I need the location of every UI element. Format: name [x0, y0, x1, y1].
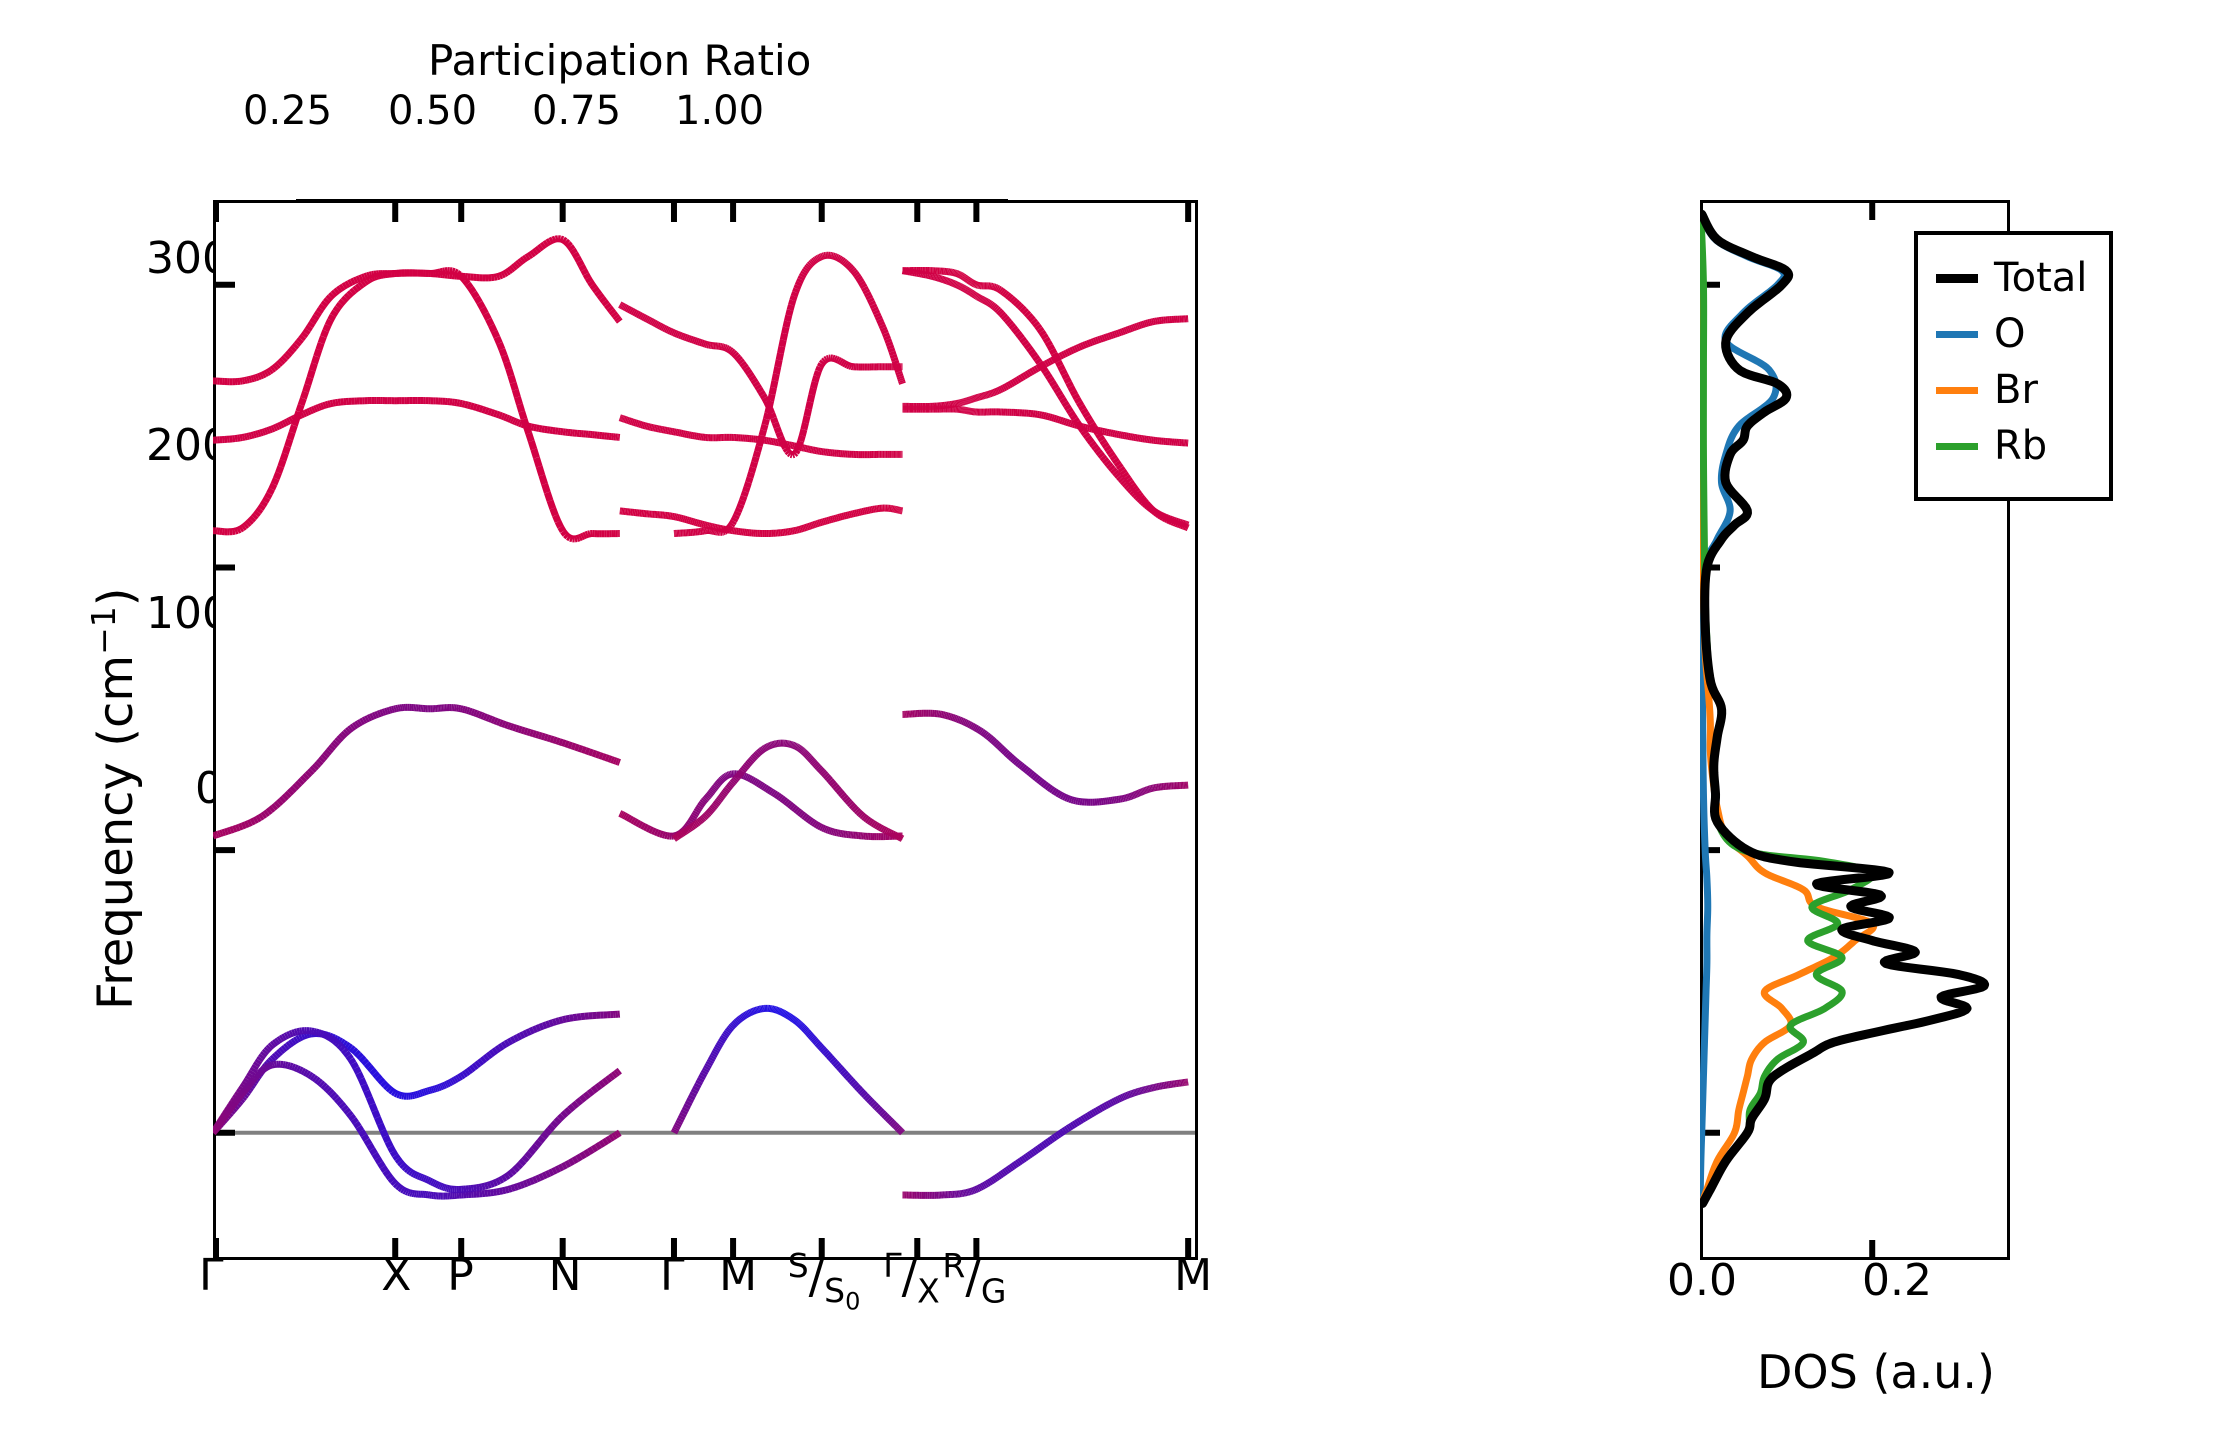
band-point: [841, 793, 843, 795]
band-point: [763, 787, 765, 788]
band-point: [679, 335, 681, 336]
band-point: [302, 778, 305, 781]
band-point: [900, 837, 901, 838]
band-point: [752, 467, 754, 472]
band-point: [895, 361, 896, 364]
band-point: [487, 717, 490, 718]
band-point: [545, 243, 548, 245]
band-point: [741, 771, 742, 773]
band-point: [261, 1055, 263, 1057]
band-point: [972, 726, 974, 727]
band-point: [265, 431, 267, 432]
band-point: [299, 405, 301, 412]
band-point: [637, 823, 639, 824]
band-point: [1041, 1146, 1043, 1147]
band-point: [361, 1079, 364, 1085]
band-point: [829, 1056, 831, 1058]
band-point: [269, 489, 271, 494]
colorbar-tick-0: 0.25: [243, 88, 332, 134]
band-point: [460, 275, 463, 278]
band-point: [959, 274, 960, 275]
band-point: [1045, 1143, 1047, 1144]
band-point: [1144, 504, 1146, 506]
band-point: [375, 1154, 378, 1159]
band-point: [520, 261, 522, 263]
band-point: [505, 725, 508, 726]
band-point: [559, 1020, 562, 1021]
band-point: [769, 746, 770, 747]
band-point: [1068, 1127, 1070, 1128]
band-point: [247, 522, 249, 524]
band-point: [683, 519, 685, 520]
band-point: [1034, 776, 1036, 778]
frac-numerator: R: [942, 1246, 965, 1285]
band-point: [736, 1021, 737, 1022]
band-point: [531, 441, 534, 449]
band-point: [674, 333, 676, 334]
band-point: [299, 339, 301, 342]
band-point: [346, 1110, 348, 1113]
band-point: [469, 711, 471, 712]
band-point: [290, 419, 292, 420]
band-point: [817, 1043, 818, 1044]
band-point: [530, 1180, 533, 1181]
band-point: [750, 1012, 751, 1013]
band-point: [708, 1065, 709, 1067]
band-point: [1050, 378, 1052, 381]
band-point: [471, 1067, 474, 1069]
band-point: [971, 293, 972, 294]
band-point: [995, 742, 997, 743]
band-point: [846, 1075, 848, 1077]
band-point: [1102, 338, 1104, 339]
band-point: [864, 287, 865, 290]
band-point: [522, 730, 525, 731]
band-point: [260, 432, 262, 433]
band-point: [867, 1097, 869, 1099]
band-point: [771, 394, 772, 401]
band-point: [330, 316, 332, 321]
band-point: [290, 433, 292, 440]
band-point: [341, 1047, 343, 1050]
band-point: [789, 1016, 790, 1017]
band-point: [798, 748, 799, 749]
band-point: [823, 828, 825, 829]
band-point: [531, 253, 534, 255]
band-point: [1100, 454, 1102, 457]
band-point: [414, 1174, 416, 1175]
band-point: [726, 530, 727, 531]
band-point: [563, 240, 565, 242]
band-point: [685, 337, 687, 338]
band-point: [1009, 322, 1011, 324]
band-point: [993, 305, 994, 306]
band-point: [1009, 384, 1011, 385]
band-point: [899, 372, 900, 374]
band-point: [531, 427, 534, 428]
band-point: [414, 1095, 416, 1096]
band-point: [1016, 761, 1018, 762]
band-point: [290, 1033, 292, 1034]
band-point: [367, 1140, 370, 1145]
band-point: [1099, 1108, 1101, 1109]
band-point: [803, 751, 804, 752]
band-point: [1132, 491, 1134, 493]
band-point: [572, 746, 575, 747]
band-point: [246, 1080, 248, 1083]
band-point: [1044, 369, 1046, 372]
band-point: [990, 304, 991, 305]
band-point: [640, 315, 642, 316]
band-point: [1075, 395, 1077, 399]
band-point: [822, 362, 824, 364]
band-point: [321, 406, 323, 407]
band-point: [509, 1188, 512, 1189]
band-point: [793, 296, 794, 300]
band-point: [741, 500, 742, 504]
band-point: [364, 1085, 367, 1091]
band-point: [882, 325, 883, 328]
band-point: [281, 1050, 283, 1052]
band-point: [1033, 1151, 1035, 1152]
band-point: [765, 419, 766, 425]
band-point: [762, 430, 763, 435]
band-point: [827, 358, 829, 359]
band-point: [1011, 298, 1013, 300]
band-point: [513, 727, 516, 728]
band-point: [317, 350, 319, 357]
band-point: [794, 1020, 795, 1021]
band-point: [1081, 346, 1083, 347]
band-point: [804, 1028, 805, 1029]
band-point: [850, 366, 852, 367]
band-point: [675, 1130, 676, 1132]
band-point: [638, 424, 640, 425]
band-point: [753, 380, 755, 383]
band-point: [810, 758, 811, 759]
legend-item-total[interactable]: Total: [1936, 255, 2087, 301]
band-point: [980, 298, 981, 299]
band-point: [272, 1044, 274, 1046]
band-point: [994, 287, 995, 288]
band-point: [708, 813, 709, 814]
band-point: [810, 264, 811, 265]
band-point: [568, 244, 570, 247]
band-point: [749, 1013, 750, 1014]
band-point: [1155, 512, 1157, 513]
band-point: [714, 788, 715, 789]
band-point: [515, 264, 517, 266]
band-point: [1071, 412, 1073, 415]
band-point: [826, 830, 828, 831]
band-point: [695, 1087, 696, 1090]
band-point: [882, 1112, 884, 1114]
band-point: [1077, 399, 1079, 403]
band-point: [997, 309, 999, 310]
band-point: [353, 1063, 356, 1068]
band-point: [1146, 323, 1148, 324]
band-point: [812, 1038, 813, 1039]
band-point: [592, 285, 594, 288]
band-point: [1053, 1137, 1055, 1138]
band-point: [1009, 755, 1011, 757]
band-point: [787, 1015, 788, 1016]
band-point: [272, 368, 274, 370]
band-point: [806, 1030, 807, 1031]
band-point: [764, 748, 765, 749]
band-point: [731, 523, 732, 525]
band-point: [390, 1090, 392, 1092]
band-point: [1075, 348, 1077, 349]
band-point: [1070, 1126, 1072, 1127]
band-point: [1005, 386, 1007, 387]
band-point: [730, 1027, 731, 1028]
band-point: [317, 312, 319, 316]
band-point: [685, 831, 686, 832]
band-point: [1120, 1098, 1122, 1099]
band-point: [733, 353, 735, 355]
band-point: [1077, 347, 1079, 348]
band-point: [272, 484, 274, 489]
band-point: [360, 284, 363, 286]
band-point: [880, 828, 882, 829]
band-point: [735, 779, 736, 780]
band-point: [527, 1182, 530, 1183]
band-point: [1055, 1135, 1057, 1136]
band-point: [218, 1123, 220, 1125]
band-point: [357, 286, 360, 288]
band-point: [1020, 377, 1022, 378]
band-point: [1130, 1094, 1131, 1095]
band-point: [629, 421, 631, 422]
band-point: [901, 381, 902, 383]
band-point: [997, 288, 999, 289]
band-point: [862, 1092, 864, 1094]
band-point: [563, 1019, 566, 1020]
band-point: [662, 327, 664, 328]
band-point: [323, 405, 325, 406]
band-point: [533, 1179, 536, 1180]
band-point: [698, 523, 700, 524]
band-point: [213, 1131, 214, 1132]
band-point: [847, 264, 848, 265]
band-point: [816, 259, 817, 260]
band-point: [1056, 389, 1058, 392]
band-point: [817, 258, 818, 259]
band-point: [325, 1087, 327, 1089]
band-point: [388, 1142, 391, 1147]
band-point: [809, 402, 811, 409]
band-point: [796, 809, 798, 811]
band-point: [818, 367, 820, 371]
band-point: [439, 1087, 441, 1088]
band-point: [509, 419, 511, 420]
band-point: [846, 799, 848, 801]
band-point: [266, 1049, 268, 1051]
band-point: [333, 744, 335, 746]
band-point: [539, 247, 542, 249]
band-point: [319, 343, 321, 350]
band-point: [600, 1143, 604, 1145]
band-point: [529, 255, 532, 257]
band-point: [991, 739, 993, 740]
legend-item-rb[interactable]: Rb: [1936, 423, 2087, 469]
band-point: [753, 462, 755, 467]
band-point: [328, 320, 330, 325]
band-point: [638, 314, 640, 315]
band-point: [361, 1058, 364, 1061]
band-point: [353, 1119, 356, 1123]
legend-item-br[interactable]: Br: [1936, 367, 2087, 413]
band-point: [958, 285, 959, 286]
band-point: [276, 803, 279, 805]
band-point: [550, 501, 553, 509]
band-point: [651, 321, 653, 322]
band-point: [1009, 297, 1011, 299]
band-point: [329, 749, 331, 751]
band-point: [372, 1070, 375, 1073]
band-point: [249, 1083, 251, 1085]
band-point: [314, 1031, 316, 1032]
band-point: [312, 768, 314, 770]
band-point: [966, 723, 968, 724]
band-point: [631, 421, 633, 422]
band-point: [711, 809, 712, 810]
band-point: [609, 308, 611, 311]
band-xtick-label-6: S/S0: [788, 1246, 861, 1316]
band-point: [225, 1111, 227, 1114]
band-point: [503, 1044, 506, 1046]
band-point: [687, 338, 689, 339]
legend-item-o[interactable]: O: [1936, 311, 2087, 357]
band-point: [319, 309, 321, 312]
band-point: [878, 317, 879, 320]
band-point: [692, 818, 693, 820]
band-point: [815, 1040, 816, 1041]
band-point: [247, 436, 249, 437]
band-point: [717, 784, 718, 785]
band-point: [995, 308, 997, 309]
band-point: [566, 1110, 570, 1113]
band-point: [378, 275, 380, 276]
band-point: [348, 1113, 350, 1116]
band-point: [292, 1032, 294, 1033]
band-point: [515, 422, 517, 423]
band-point: [303, 333, 305, 336]
band-point: [1006, 752, 1008, 754]
band-point: [330, 403, 332, 404]
band-point: [1089, 1114, 1091, 1115]
band-point: [880, 1111, 882, 1113]
band-point: [769, 401, 770, 407]
band-point: [799, 279, 800, 282]
band-point: [550, 1023, 553, 1024]
band-point: [349, 728, 351, 730]
band-point: [279, 425, 281, 426]
band-point: [968, 291, 969, 292]
band-point: [700, 342, 702, 343]
band-point: [1150, 508, 1152, 509]
band-point: [772, 792, 774, 793]
band-point: [334, 1096, 336, 1099]
band-point: [853, 807, 855, 809]
band-point: [1039, 1147, 1041, 1148]
band-point: [1004, 751, 1006, 753]
band-point: [1071, 387, 1073, 391]
band-point: [976, 296, 977, 297]
band-point: [461, 1075, 463, 1076]
band-point: [752, 758, 753, 759]
band-point: [354, 280, 357, 281]
band-point: [628, 818, 630, 819]
band-point: [827, 1054, 829, 1056]
band-point: [269, 370, 271, 372]
band-point: [1052, 350, 1054, 354]
band-point: [254, 515, 256, 518]
band-point: [1132, 328, 1134, 329]
band-point: [500, 1179, 503, 1181]
band-point: [865, 818, 867, 819]
band-point: [746, 765, 747, 767]
band-point: [297, 416, 299, 417]
band-point: [258, 376, 260, 377]
band-point: [896, 1126, 897, 1127]
band-point: [1115, 459, 1117, 462]
band-point: [991, 1180, 993, 1181]
band-point: [956, 284, 957, 285]
band-point: [577, 1157, 581, 1159]
band-point: [648, 320, 650, 321]
band-point: [1007, 385, 1009, 386]
band-point: [791, 300, 792, 305]
band-point: [1007, 320, 1009, 322]
band-point: [830, 1057, 832, 1059]
band-point: [977, 296, 978, 297]
band-point: [256, 1075, 258, 1077]
band-point: [1033, 354, 1035, 357]
band-point: [782, 798, 784, 799]
band-point: [1090, 420, 1092, 423]
band-point: [618, 1071, 620, 1072]
band-point: [339, 1045, 341, 1047]
band-point: [1064, 1130, 1066, 1131]
band-point: [996, 743, 998, 744]
band-point: [380, 1080, 383, 1083]
band-point: [1048, 375, 1050, 378]
band-point: [616, 1134, 618, 1135]
band-point: [309, 1075, 311, 1076]
band-point: [611, 760, 613, 761]
band-point: [685, 1108, 686, 1111]
band-point: [216, 834, 218, 835]
band-point: [778, 796, 780, 797]
band-point: [301, 398, 303, 405]
band-point: [1052, 382, 1054, 385]
band-point: [1071, 424, 1073, 425]
band-point: [724, 792, 725, 793]
band-point: [314, 408, 316, 409]
band-point: [969, 281, 970, 282]
band-point: [385, 1136, 388, 1142]
band-point: [433, 1183, 435, 1184]
band-point: [546, 1173, 549, 1175]
band-point: [678, 835, 679, 836]
band-point: [1109, 450, 1111, 453]
band-point: [705, 799, 706, 800]
band-point: [716, 803, 717, 804]
band-point: [314, 357, 316, 364]
band-point: [533, 1029, 536, 1030]
